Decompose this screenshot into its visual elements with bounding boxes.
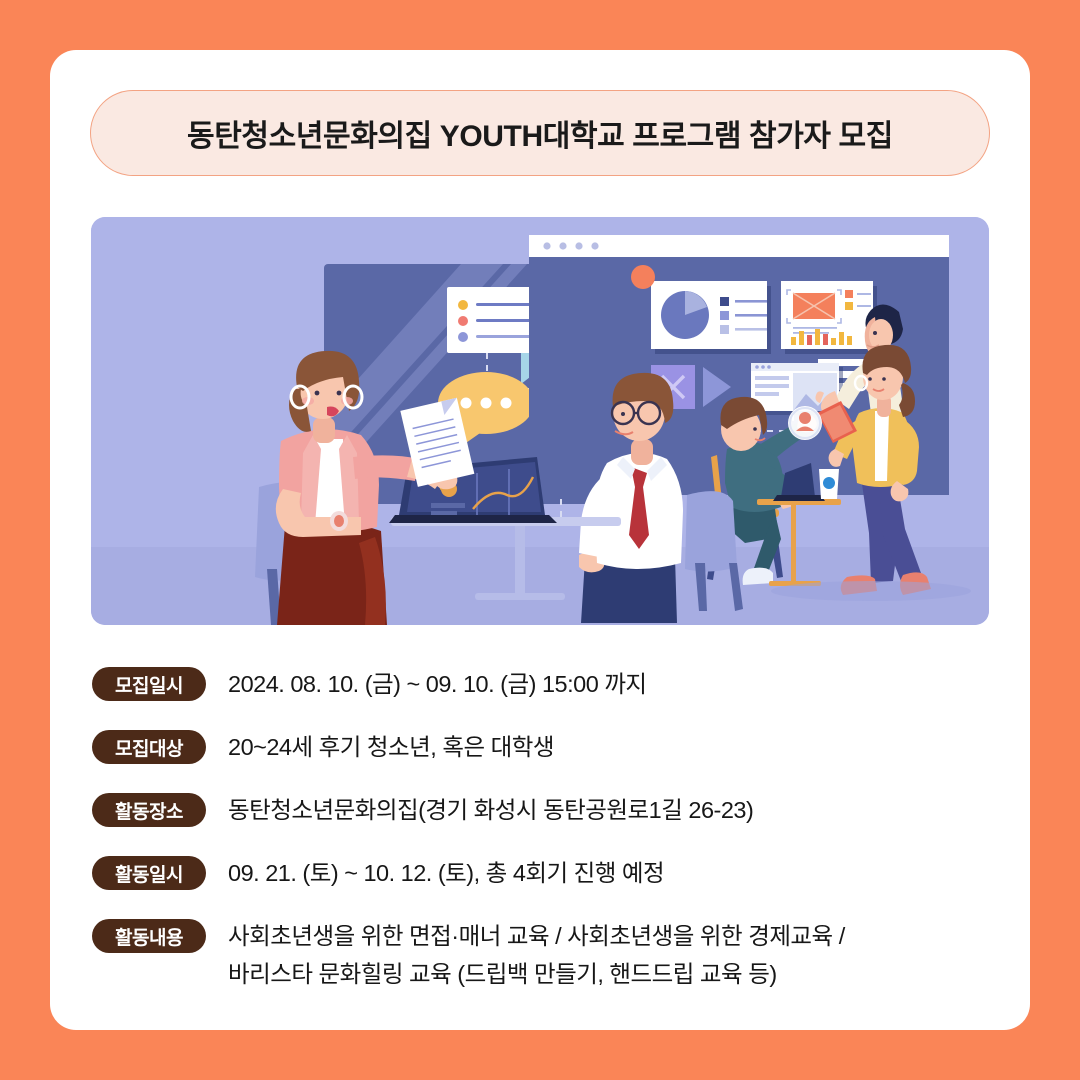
info-value: 09. 21. (토) ~ 10. 12. (토), 총 4회기 진행 예정: [228, 854, 664, 892]
info-value: 2024. 08. 10. (금) ~ 09. 10. (금) 15:00 까지: [228, 665, 647, 703]
page-title: 동탄청소년문화의집 YOUTH대학교 프로그램 참가자 모집: [187, 111, 893, 155]
info-label: 모집대상: [92, 730, 206, 764]
info-row-location: 활동장소 동탄청소년문화의집(경기 화성시 동탄공원로1길 26-23): [92, 791, 992, 829]
info-value: 동탄청소년문화의집(경기 화성시 동탄공원로1길 26-23): [228, 791, 753, 829]
info-label: 활동일시: [92, 856, 206, 890]
info-row-activity-date: 활동일시 09. 21. (토) ~ 10. 12. (토), 총 4회기 진행…: [92, 854, 992, 892]
poster-card: 동탄청소년문화의집 YOUTH대학교 프로그램 참가자 모집: [50, 50, 1030, 1030]
info-label: 활동장소: [92, 793, 206, 827]
title-banner: 동탄청소년문화의집 YOUTH대학교 프로그램 참가자 모집: [90, 90, 990, 176]
info-value: 20~24세 후기 청소년, 혹은 대학생: [228, 728, 554, 766]
info-value: 사회초년생을 위한 면접·매너 교육 / 사회초년생을 위한 경제교육 / 바리…: [228, 917, 845, 993]
info-label: 모집일시: [92, 667, 206, 701]
illustration-svg: [91, 217, 989, 625]
info-row-recruit-period: 모집일시 2024. 08. 10. (금) ~ 09. 10. (금) 15:…: [92, 665, 992, 703]
hero-illustration: [91, 217, 989, 625]
info-row-activity-content: 활동내용 사회초년생을 위한 면접·매너 교육 / 사회초년생을 위한 경제교육…: [92, 917, 992, 993]
poster-root: 동탄청소년문화의집 YOUTH대학교 프로그램 참가자 모집: [0, 0, 1080, 1080]
info-label: 활동내용: [92, 919, 206, 953]
info-list: 모집일시 2024. 08. 10. (금) ~ 09. 10. (금) 15:…: [92, 665, 992, 993]
info-row-target: 모집대상 20~24세 후기 청소년, 혹은 대학생: [92, 728, 992, 766]
